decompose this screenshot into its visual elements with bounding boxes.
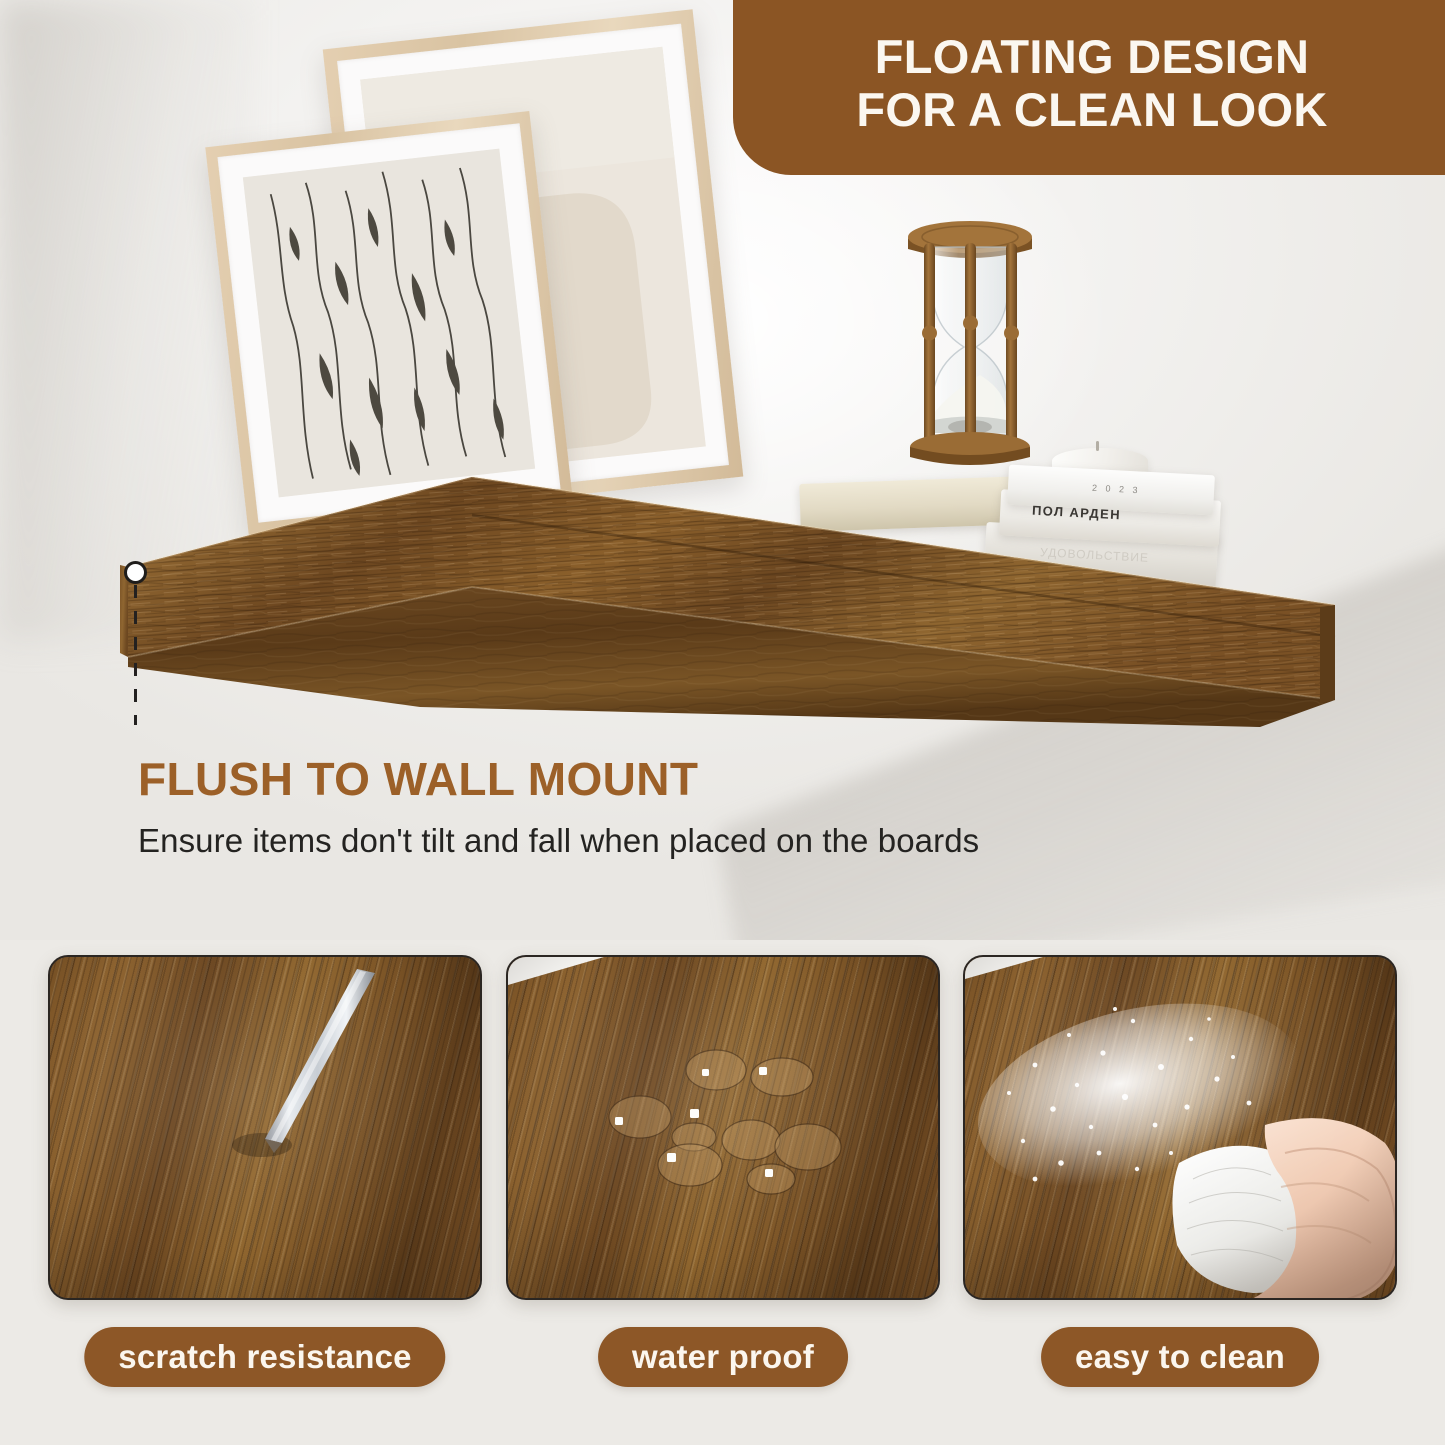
wood-vignette bbox=[508, 957, 938, 1298]
feature-card-easy-to-clean: easy to clean bbox=[963, 955, 1397, 1300]
feature-panel-row: scratch resistance bbox=[0, 955, 1445, 1445]
feature-card-scratch-resistance: scratch resistance bbox=[48, 955, 482, 1300]
wood-vignette bbox=[965, 957, 1395, 1298]
feature-image-easy-to-clean bbox=[963, 955, 1397, 1300]
page-subheadline: Ensure items don't tilt and fall when pl… bbox=[138, 822, 979, 860]
wood-vignette bbox=[50, 957, 480, 1298]
wall-mount-dashed-line bbox=[134, 585, 137, 725]
abstract-line-art bbox=[243, 149, 535, 498]
feature-image-scratch-resistance bbox=[48, 955, 482, 1300]
header-banner: FLOATING DESIGN FOR A CLEAN LOOK bbox=[733, 0, 1445, 175]
page-headline: FLUSH TO WALL MOUNT bbox=[138, 752, 698, 806]
wall-mount-point-dot bbox=[124, 561, 147, 584]
product-feature-page: 2 0 2 3 ПОЛ АРДЕН УДОВОЛЬСТВИЕ bbox=[0, 0, 1445, 1445]
banner-title: FLOATING DESIGN FOR A CLEAN LOOK bbox=[856, 31, 1327, 136]
feature-label-scratch-resistance: scratch resistance bbox=[84, 1327, 445, 1387]
feature-card-water-proof: water proof bbox=[506, 955, 940, 1300]
feature-label-easy-to-clean: easy to clean bbox=[1041, 1327, 1319, 1387]
floating-shelf-board bbox=[120, 455, 1350, 730]
feature-image-water-proof bbox=[506, 955, 940, 1300]
feature-label-water-proof: water proof bbox=[598, 1327, 848, 1387]
